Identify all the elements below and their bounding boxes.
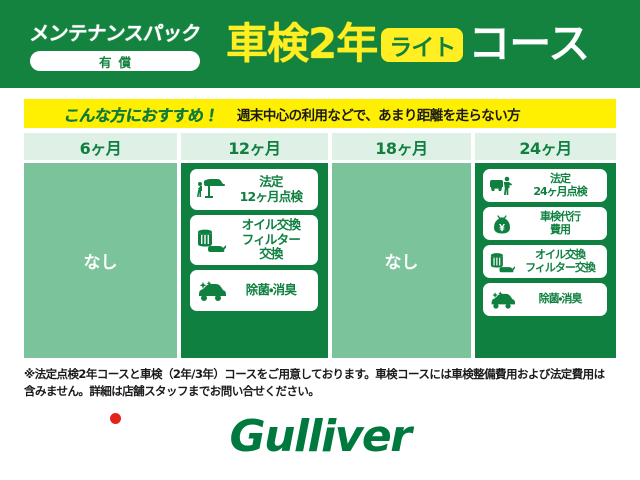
service-item-sanitize-deodorize-12months: 除菌・消臭 bbox=[190, 270, 318, 311]
header-left-group: メンテナンスパック 有償 bbox=[0, 17, 224, 71]
service-list-24months: 法定 24ヶ月点検 車検代行 費用 bbox=[475, 163, 616, 358]
disclaimer-line-1: ※法定点検2年コースと車検（2年/3年）コースをご用意しております。車検コースに… bbox=[24, 366, 620, 383]
no-service-cell-6months: なし bbox=[24, 163, 177, 358]
column-body-24months: 法定 24ヶ月点検 車検代行 費用 bbox=[475, 163, 616, 358]
table-column-6months: 6ヶ月 なし bbox=[24, 133, 177, 358]
paid-badge: 有償 bbox=[30, 51, 200, 71]
header-banner: メンテナンスパック 有償 車検2年 ライト コース bbox=[0, 0, 640, 88]
disclaimer-note: ※法定点検2年コースと車検（2年/3年）コースをご用意しております。車検コースに… bbox=[24, 366, 620, 399]
service-item-legal-12month-inspection: 法定 12ヶ月点検 bbox=[190, 169, 318, 210]
service-item-inspection-agency-fee: 車検代行 費用 bbox=[483, 207, 607, 240]
recommendation-label: こんな方におすすめ！ bbox=[62, 102, 220, 126]
service-label-sanitize-deodorize-12months: 除菌・消臭 bbox=[227, 283, 314, 297]
service-item-oil-filter-change-12months: オイル交換 フィルター 交換 bbox=[190, 215, 318, 265]
service-list-12months: 法定 12ヶ月点検 bbox=[181, 163, 328, 358]
no-service-cell-18months: なし bbox=[332, 163, 471, 358]
car-lift-inspection-icon bbox=[195, 176, 227, 204]
column-header-12months: 12ヶ月 bbox=[181, 133, 328, 160]
course-suffix-title: コース bbox=[468, 23, 589, 65]
column-header-18months: 18ヶ月 bbox=[332, 133, 471, 160]
money-bag-yen-icon bbox=[488, 212, 516, 236]
table-column-18months: 18ヶ月 なし bbox=[332, 133, 471, 358]
oil-filter-change-icon bbox=[195, 226, 227, 254]
table-column-12months: 12ヶ月 bbox=[181, 133, 328, 358]
service-label-oil-filter-change-24months: オイル交換 フィルター交換 bbox=[516, 249, 603, 274]
car-sanitize-icon bbox=[195, 277, 227, 305]
gulliver-logo-text: Gulliver bbox=[230, 415, 411, 459]
none-label-18months: なし bbox=[384, 248, 418, 273]
maintenance-pack-title: メンテナンスパック bbox=[28, 17, 202, 46]
recommendation-bar: こんな方におすすめ！ 週末中心の利用などで、あまり距離を走らない方 bbox=[24, 99, 616, 128]
disclaimer-line-2: 含みません。詳細は店舗スタッフまでお問い合せください。 bbox=[24, 383, 620, 400]
service-label-sanitize-deodorize-24months: 除菌・消臭 bbox=[516, 293, 603, 306]
service-item-sanitize-deodorize-24months: 除菌・消臭 bbox=[483, 283, 607, 316]
service-item-legal-24month-inspection: 法定 24ヶ月点検 bbox=[483, 169, 607, 202]
column-body-6months: なし bbox=[24, 163, 177, 358]
gulliver-logo-dot bbox=[110, 413, 121, 424]
none-label-6months: なし bbox=[83, 248, 117, 273]
service-label-legal-24month-inspection: 法定 24ヶ月点検 bbox=[516, 173, 603, 198]
column-header-24months: 24ヶ月 bbox=[475, 133, 616, 160]
course-main-title: 車検2年 bbox=[226, 23, 377, 65]
service-label-legal-12month-inspection: 法定 12ヶ月点検 bbox=[227, 175, 314, 204]
service-label-inspection-agency-fee: 車検代行 費用 bbox=[516, 211, 603, 236]
service-item-oil-filter-change-24months: オイル交換 フィルター交換 bbox=[483, 245, 607, 278]
course-lite-badge: ライト bbox=[381, 28, 463, 62]
maintenance-pack-banner: メンテナンスパック 有償 車検2年 ライト コース こんな方におすすめ！ 週末中… bbox=[0, 0, 640, 480]
column-header-6months: 6ヶ月 bbox=[24, 133, 177, 160]
maintenance-schedule-table: 6ヶ月 なし 12ヶ月 bbox=[24, 133, 616, 358]
oil-filter-change-icon bbox=[488, 250, 516, 274]
car-sanitize-icon bbox=[488, 288, 516, 312]
table-column-24months: 24ヶ月 bbox=[475, 133, 616, 358]
column-body-18months: なし bbox=[332, 163, 471, 358]
brand-logo: Gulliver bbox=[0, 412, 640, 462]
recommendation-text: 週末中心の利用などで、あまり距離を走らない方 bbox=[237, 104, 520, 124]
header-right-group: 車検2年 ライト コース bbox=[224, 23, 640, 65]
column-body-12months: 法定 12ヶ月点検 bbox=[181, 163, 328, 358]
car-inspection-agent-icon bbox=[488, 174, 516, 198]
service-label-oil-filter-change-12months: オイル交換 フィルター 交換 bbox=[227, 218, 314, 261]
